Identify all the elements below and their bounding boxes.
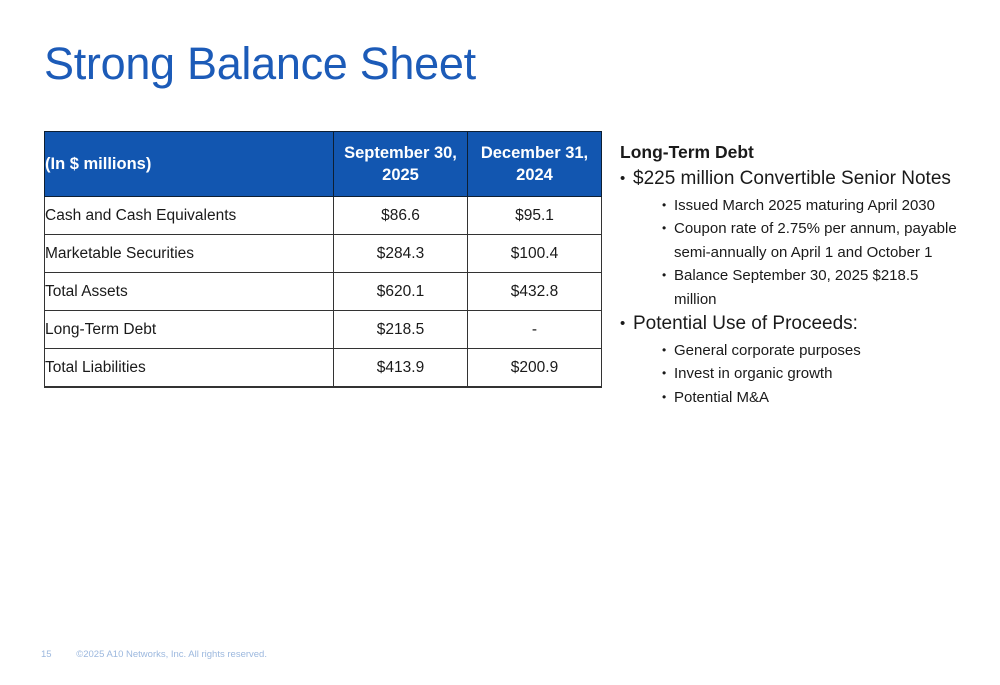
cell-cash-dec-2024: $95.1: [468, 197, 602, 235]
row-label-marketable-securities: Marketable Securities: [45, 235, 334, 273]
sub-bullet-invest-organic-growth: Invest in organic growth: [662, 362, 960, 386]
balance-sheet-table: (In $ millions) September 30, 2025 Decem…: [44, 131, 602, 388]
cell-total-liabilities-sep-2025: $413.9: [334, 349, 468, 388]
table-header-row: (In $ millions) September 30, 2025 Decem…: [45, 132, 602, 197]
cell-total-assets-dec-2024: $432.8: [468, 273, 602, 311]
cell-long-term-debt-sep-2025: $218.5: [334, 311, 468, 349]
sub-bullet-potential-m-and-a: Potential M&A: [662, 386, 960, 410]
copyright-notice: ©2025 A10 Networks, Inc. All rights rese…: [76, 649, 267, 660]
table-row: Marketable Securities $284.3 $100.4: [45, 235, 602, 273]
long-term-debt-notes: Long-Term Debt $225 million Convertible …: [620, 140, 960, 409]
table-row: Total Assets $620.1 $432.8: [45, 273, 602, 311]
sub-bullet-issued-maturity: Issued March 2025 maturing April 2030: [662, 194, 960, 218]
row-label-total-assets: Total Assets: [45, 273, 334, 311]
slide-footer: 15 ©2025 A10 Networks, Inc. All rights r…: [41, 648, 267, 661]
table-row: Total Liabilities $413.9 $200.9: [45, 349, 602, 388]
page-number: 15: [41, 649, 52, 660]
column-header-dec-2024: December 31, 2024: [468, 132, 602, 197]
page-title: Strong Balance Sheet: [44, 36, 476, 91]
sub-bullet-general-corporate-purposes: General corporate purposes: [662, 339, 960, 363]
notes-bullet-list: $225 million Convertible Senior Notes Is…: [620, 166, 960, 409]
cell-marketable-securities-dec-2024: $100.4: [468, 235, 602, 273]
cell-total-liabilities-dec-2024: $200.9: [468, 349, 602, 388]
cell-cash-sep-2025: $86.6: [334, 197, 468, 235]
column-header-sep-2025: September 30, 2025: [334, 132, 468, 197]
column-header-line-item: (In $ millions): [45, 132, 334, 197]
notes-heading: Long-Term Debt: [620, 140, 960, 164]
sub-bullet-balance: Balance September 30, 2025 $218.5 millio…: [662, 264, 960, 311]
bullet-potential-use-of-proceeds: Potential Use of Proceeds:: [620, 311, 960, 338]
row-label-cash-and-cash-equivalents: Cash and Cash Equivalents: [45, 197, 334, 235]
bullet-convertible-senior-notes: $225 million Convertible Senior Notes: [620, 166, 960, 193]
row-label-long-term-debt: Long-Term Debt: [45, 311, 334, 349]
sub-bullet-coupon-rate: Coupon rate of 2.75% per annum, payable …: [662, 217, 960, 264]
cell-total-assets-sep-2025: $620.1: [334, 273, 468, 311]
row-label-total-liabilities: Total Liabilities: [45, 349, 334, 388]
cell-long-term-debt-dec-2024: -: [468, 311, 602, 349]
notes-sub-list-debt: Issued March 2025 maturing April 2030 Co…: [662, 194, 960, 312]
notes-sub-list-proceeds: General corporate purposes Invest in org…: [662, 339, 960, 410]
table-row: Cash and Cash Equivalents $86.6 $95.1: [45, 197, 602, 235]
cell-marketable-securities-sep-2025: $284.3: [334, 235, 468, 273]
table-row: Long-Term Debt $218.5 -: [45, 311, 602, 349]
